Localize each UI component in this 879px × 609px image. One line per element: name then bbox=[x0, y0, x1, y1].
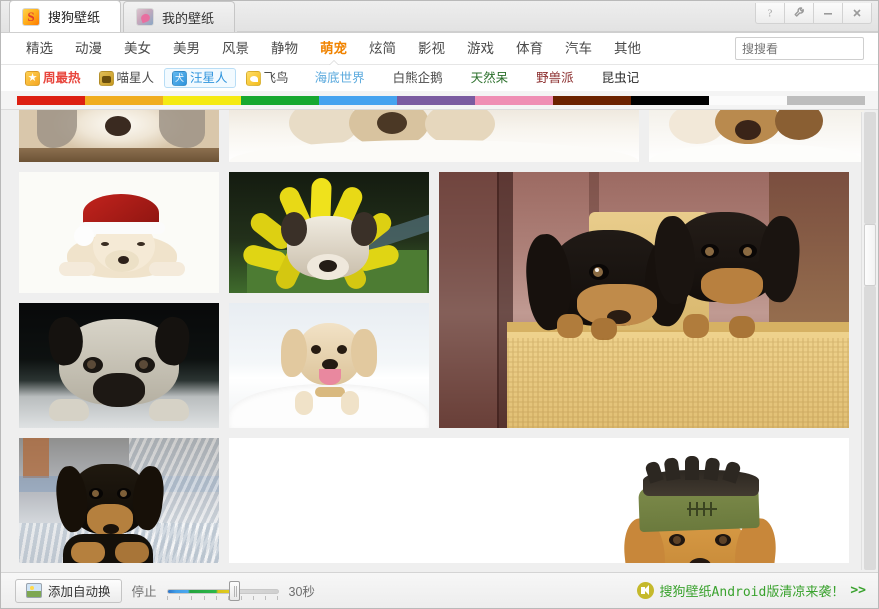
star-icon bbox=[25, 71, 40, 86]
minimize-button[interactable] bbox=[813, 3, 843, 24]
wallpaper-grid-area bbox=[1, 109, 878, 572]
window-controls: ? bbox=[756, 2, 872, 24]
slider-thumb[interactable] bbox=[229, 581, 240, 601]
category-nav: 精选 动漫 美女 美男 风景 静物 萌宠 炫简 影视 游戏 体育 汽车 其他 bbox=[1, 33, 878, 65]
wallpaper-thumb-sleeping-golden-retriever[interactable] bbox=[19, 110, 219, 162]
color-red[interactable] bbox=[17, 96, 85, 105]
speaker-icon bbox=[637, 582, 654, 599]
help-button[interactable]: ? bbox=[755, 3, 785, 24]
color-white[interactable] bbox=[709, 96, 787, 105]
tag-label: 昆虫记 bbox=[602, 69, 640, 87]
wallpaper-thumb-two-dachshunds[interactable] bbox=[439, 172, 849, 428]
slider-tick bbox=[265, 596, 266, 600]
tag-item-miaoxingren[interactable]: 喵星人 bbox=[91, 68, 163, 88]
tag-item-yeshoupai[interactable]: 野兽派 bbox=[528, 68, 582, 88]
stop-label: 停止 bbox=[132, 581, 157, 600]
wallpaper-thumb-santa-hat-puppy[interactable] bbox=[19, 172, 219, 293]
tag-label: 飞鸟 bbox=[264, 69, 289, 87]
nav-item-qita[interactable]: 其他 bbox=[603, 33, 652, 65]
close-button[interactable] bbox=[842, 3, 872, 24]
tag-item-wangxingren[interactable]: 汪星人 bbox=[164, 68, 236, 88]
slider-tick bbox=[204, 596, 205, 600]
tab-label: 我的壁纸 bbox=[162, 8, 214, 27]
add-auto-change-button[interactable]: 添加自动换 bbox=[15, 579, 122, 603]
interval-label: 30秒 bbox=[289, 581, 315, 600]
vertical-scrollbar[interactable] bbox=[861, 112, 877, 570]
color-filter-row bbox=[1, 91, 878, 109]
interval-slider[interactable] bbox=[167, 581, 279, 601]
cat-icon bbox=[99, 71, 114, 86]
wallpaper-thumb-sunflower-bulldog[interactable] bbox=[229, 172, 429, 293]
tag-nav: 周最热 喵星人 汪星人 飞鸟 海底世界 白熊企鹅 天然呆 野兽派 昆虫记 bbox=[1, 65, 878, 91]
add-auto-change-label: 添加自动换 bbox=[48, 581, 111, 600]
color-blue[interactable] bbox=[319, 96, 397, 105]
promo-text: 搜狗壁纸Android版清凉来袭！ bbox=[660, 581, 845, 600]
tag-label: 白熊企鹅 bbox=[393, 69, 443, 87]
tag-item-feiniao[interactable]: 飞鸟 bbox=[238, 68, 297, 88]
tab-label: 搜狗壁纸 bbox=[48, 7, 100, 26]
tag-label: 天然呆 bbox=[471, 69, 509, 87]
tag-label: 喵星人 bbox=[117, 69, 155, 87]
wallpaper-thumb-frankenstein-puppy[interactable] bbox=[229, 438, 849, 563]
nav-item-fengjing[interactable]: 风景 bbox=[211, 33, 260, 65]
sogou-logo-icon bbox=[22, 8, 40, 26]
gallery-row bbox=[19, 438, 860, 563]
tag-item-zuire[interactable]: 周最热 bbox=[17, 68, 89, 88]
slider-tick bbox=[216, 596, 217, 600]
nav-item-jingxuan[interactable]: 精选 bbox=[15, 33, 64, 65]
bird-icon bbox=[246, 71, 261, 86]
app-window: 搜狗壁纸 我的壁纸 ? 精选 动漫 美女 bbox=[0, 0, 879, 609]
wallpaper-thumb-smiling-golden-puppy[interactable] bbox=[229, 303, 429, 428]
tab-my-wallpaper[interactable]: 我的壁纸 bbox=[123, 1, 235, 32]
nav-item-dongman[interactable]: 动漫 bbox=[64, 33, 113, 65]
color-green[interactable] bbox=[241, 96, 319, 105]
color-pink[interactable] bbox=[475, 96, 553, 105]
color-black[interactable] bbox=[631, 96, 709, 105]
wallpaper-add-icon bbox=[26, 583, 42, 598]
nav-item-meinan[interactable]: 美男 bbox=[162, 33, 211, 65]
color-brown[interactable] bbox=[553, 96, 631, 105]
promo-arrow[interactable]: >> bbox=[850, 583, 866, 598]
nav-item-meinv[interactable]: 美女 bbox=[113, 33, 162, 65]
slider-tick bbox=[277, 596, 278, 600]
wallpaper-thumb-cream-puppy-pile[interactable] bbox=[229, 110, 639, 162]
wallpaper-thumb-pug-on-black[interactable] bbox=[19, 303, 219, 428]
color-filter-bar bbox=[17, 96, 865, 105]
gallery-row bbox=[19, 110, 860, 162]
gallery-row bbox=[19, 172, 860, 428]
nav-item-mengchong[interactable]: 萌宠 bbox=[309, 33, 358, 65]
color-yellow[interactable] bbox=[163, 96, 241, 105]
tag-item-kunchongji[interactable]: 昆虫记 bbox=[594, 68, 648, 88]
tag-label: 周最热 bbox=[43, 69, 81, 87]
tag-label: 汪星人 bbox=[190, 69, 228, 87]
search-box[interactable] bbox=[735, 37, 864, 60]
slider-track[interactable] bbox=[167, 589, 279, 594]
slider-ticks bbox=[167, 596, 279, 600]
tag-item-haidishijie[interactable]: 海底世界 bbox=[307, 68, 373, 88]
search-input[interactable] bbox=[736, 38, 879, 59]
nav-item-xuanjian[interactable]: 炫简 bbox=[358, 33, 407, 65]
nav-item-youxi[interactable]: 游戏 bbox=[456, 33, 505, 65]
settings-button[interactable] bbox=[784, 3, 814, 24]
scrollbar-track-upper[interactable] bbox=[864, 112, 876, 224]
slider-tick bbox=[253, 596, 254, 600]
promo-banner[interactable]: 搜狗壁纸Android版清凉来袭！ >> bbox=[637, 581, 866, 600]
color-gray[interactable] bbox=[787, 96, 865, 105]
nav-item-yingshi[interactable]: 影视 bbox=[407, 33, 456, 65]
tag-item-baixiongqie[interactable]: 白熊企鹅 bbox=[385, 68, 451, 88]
tag-item-tianranda[interactable]: 天然呆 bbox=[463, 68, 517, 88]
nav-item-qiche[interactable]: 汽车 bbox=[554, 33, 603, 65]
slider-tick bbox=[167, 596, 168, 600]
wallpaper-grid bbox=[1, 110, 860, 572]
dog-icon bbox=[172, 71, 187, 86]
nav-item-tiyu[interactable]: 体育 bbox=[505, 33, 554, 65]
scrollbar-thumb[interactable] bbox=[864, 224, 876, 286]
tag-label: 野兽派 bbox=[536, 69, 574, 87]
scrollbar-track-lower[interactable] bbox=[864, 286, 876, 570]
svg-text:?: ? bbox=[768, 8, 773, 19]
slider-tick bbox=[241, 596, 242, 600]
tab-sogou-wallpaper[interactable]: 搜狗壁纸 bbox=[9, 0, 121, 32]
nav-item-jingwu[interactable]: 静物 bbox=[260, 33, 309, 65]
color-purple[interactable] bbox=[397, 96, 475, 105]
color-orange[interactable] bbox=[85, 96, 163, 105]
tab-bar: 搜狗壁纸 我的壁纸 ? bbox=[1, 1, 878, 33]
status-bar: 添加自动换 停止 30秒 搜狗壁纸Android版清凉来袭！ >> bbox=[1, 572, 878, 608]
my-wallpaper-icon bbox=[136, 8, 154, 26]
wallpaper-thumb-puppy-on-white-blanket[interactable] bbox=[649, 110, 864, 162]
tag-label: 海底世界 bbox=[315, 69, 365, 87]
slider-tick bbox=[191, 596, 192, 600]
slider-tick bbox=[179, 596, 180, 600]
wallpaper-thumb-black-tan-dachshund[interactable] bbox=[19, 438, 219, 563]
